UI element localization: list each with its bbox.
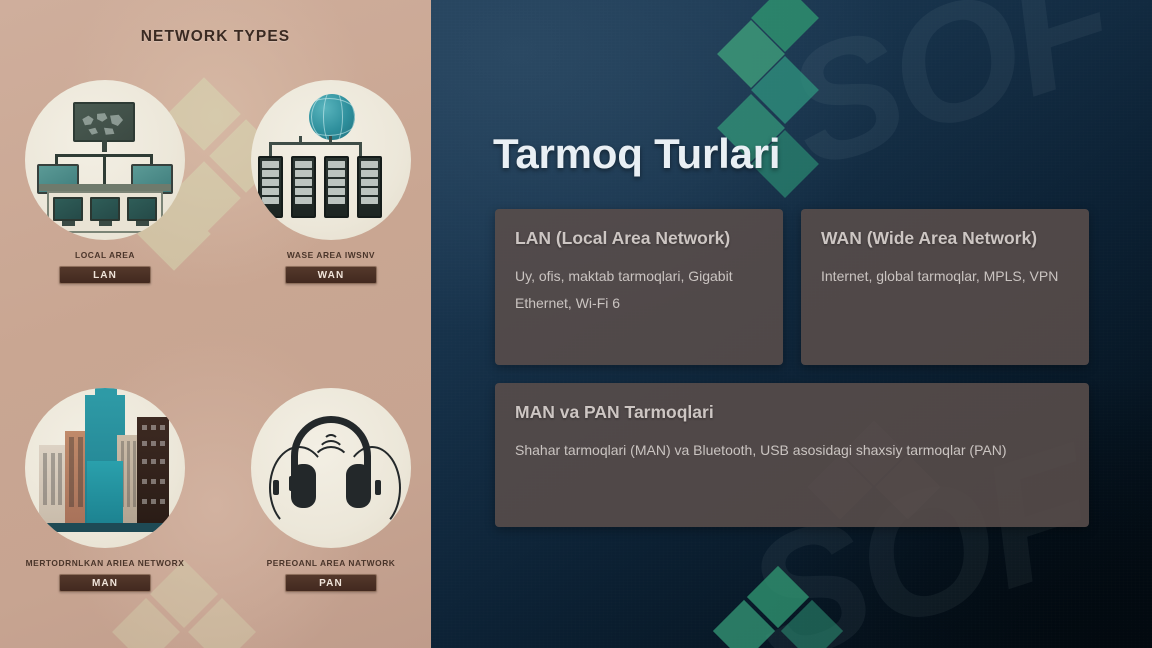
lan-workstation-1	[53, 197, 83, 221]
lan-drop-center	[103, 154, 106, 184]
watermark-logo-top	[731, 0, 861, 210]
globe-servers-icon	[251, 80, 411, 240]
cell-badge-pan: PAN	[285, 574, 377, 592]
illustration-cell-pan: PEREOANL AREA NATWORK PAN	[236, 388, 426, 592]
page-title: Tarmoq Turlari	[493, 130, 780, 178]
building-5-dark	[137, 417, 169, 523]
card-wan: WAN (Wide Area Network) Internet, global…	[801, 209, 1089, 365]
cell-badge-lan: LAN	[59, 266, 151, 284]
card-man-pan: MAN va PAN Tarmoqlari Shahar tarmoqlari …	[495, 383, 1089, 527]
cell-caption-wan: WASE AREA IWSNV	[236, 250, 426, 260]
illustration-cell-man: MERTODRNLKAN ARIEA NETWORX MAN	[10, 388, 200, 592]
card-wan-body: Internet, global tarmoqlar, MPLS, VPN	[821, 263, 1069, 290]
server-rack-2	[291, 156, 316, 218]
card-lan-body: Uy, ofis, maktab tarmoqlari, Gigabit Eth…	[515, 263, 763, 317]
cell-caption-pan: PEREOANL AREA NATWORK	[236, 558, 426, 568]
wan-drop-2	[299, 136, 302, 144]
cards-row-bottom: MAN va PAN Tarmoqlari Shahar tarmoqlari …	[495, 383, 1089, 527]
slide-root: NETWORK TYPES LOC	[0, 0, 1152, 648]
server-rack-1	[258, 156, 283, 218]
server-rack-3	[324, 156, 349, 218]
card-wan-title: WAN (Wide Area Network)	[821, 227, 1069, 250]
building-1	[39, 445, 65, 523]
audio-plug-2	[289, 476, 295, 491]
card-man-pan-title: MAN va PAN Tarmoqlari	[515, 401, 1069, 424]
server-rack-4	[357, 156, 382, 218]
cell-caption-man: MERTODRNLKAN ARIEA NETWORX	[10, 558, 200, 568]
building-3-top	[95, 388, 117, 396]
network-types-illustration-panel: NETWORK TYPES LOC	[0, 0, 431, 648]
illustration-heading: NETWORK TYPES	[0, 28, 431, 46]
watermark-text-top: SOF	[765, 0, 1135, 205]
audio-plug-3	[375, 480, 381, 495]
lan-diagram-icon	[25, 80, 185, 240]
headphones-wireless-icon	[251, 388, 411, 548]
lan-workstation-3	[127, 197, 157, 221]
lan-desk-top	[39, 184, 171, 191]
wan-bus-line	[269, 142, 361, 145]
globe-icon	[309, 94, 355, 140]
card-man-pan-body: Shahar tarmoqlari (MAN) va Bluetooth, US…	[515, 437, 1069, 464]
city-skyline-icon	[25, 388, 185, 548]
wan-drop-3	[329, 136, 332, 144]
audio-plug-1	[273, 480, 279, 495]
lan-workstation-2	[90, 197, 120, 221]
lan-main-monitor	[73, 102, 135, 142]
building-6-teal-front	[87, 461, 123, 523]
illustration-cell-wan: WASE AREA IWSNV WAN	[236, 80, 426, 284]
card-lan: LAN (Local Area Network) Uy, ofis, makta…	[495, 209, 783, 365]
city-base	[35, 523, 175, 532]
card-lan-title: LAN (Local Area Network)	[515, 227, 763, 250]
cards-row-top: LAN (Local Area Network) Uy, ofis, makta…	[495, 209, 1089, 365]
cell-badge-wan: WAN	[285, 266, 377, 284]
cell-badge-man: MAN	[59, 574, 151, 592]
watermark-logo-bottom	[736, 575, 856, 648]
cell-caption-lan: LOCAL AREA	[10, 250, 200, 260]
illustration-cell-lan: LOCAL AREA LAN	[10, 80, 200, 284]
world-map-icon	[78, 107, 130, 140]
cord-right	[343, 446, 401, 530]
